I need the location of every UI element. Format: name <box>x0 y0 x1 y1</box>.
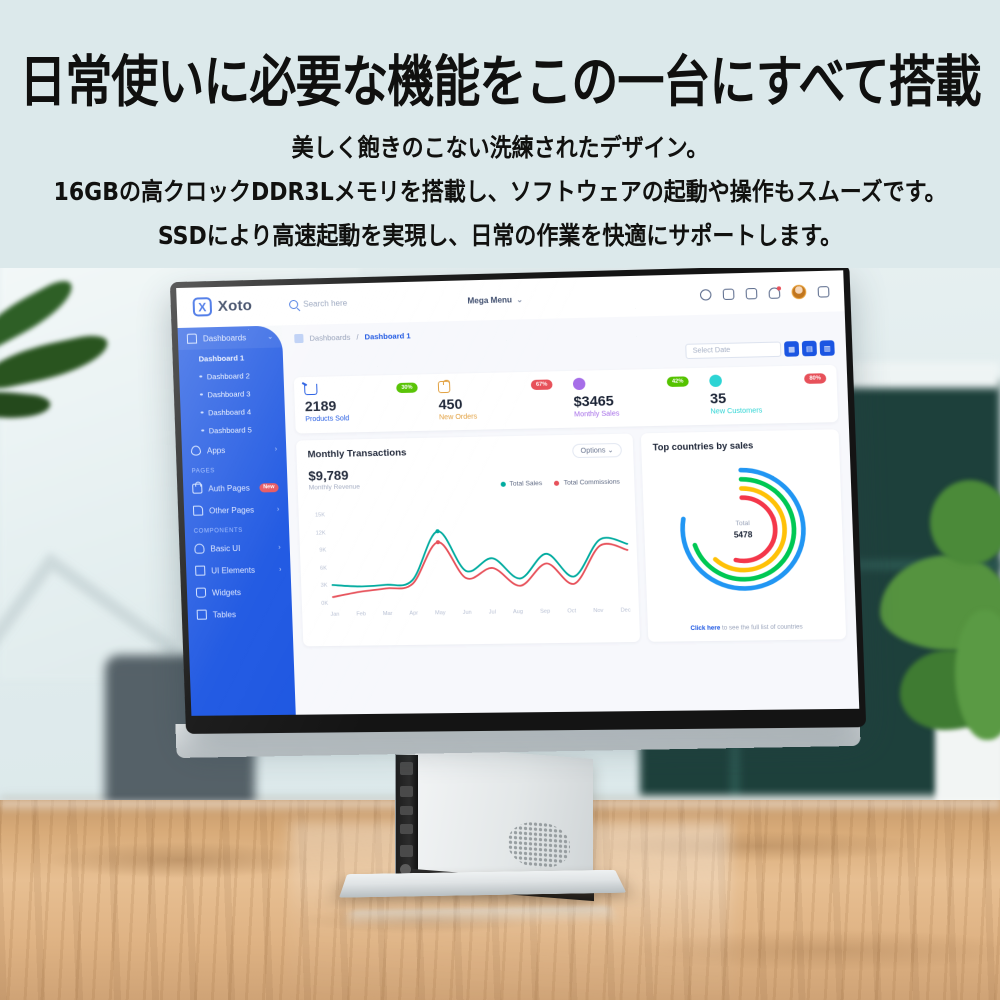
stat-label: New Orders <box>439 412 554 422</box>
promo-line-3: SSDにより高速起動を実現し、日常の作業を快適にサポートします。 <box>0 216 1000 252</box>
table-icon <box>197 610 207 620</box>
stat-card-header: 30% <box>304 382 418 396</box>
mega-menu-label: Mega Menu <box>467 295 512 305</box>
options-label: Options <box>581 447 606 455</box>
port-vga-icon <box>400 762 413 775</box>
legend-label: Total Sales <box>509 480 542 488</box>
stat-card-header: 80% <box>709 372 826 387</box>
chevron-right-icon: › <box>279 566 282 573</box>
line-chart: 15K12K9K6K3K0K JanFebMarAprMayJunJulAugS… <box>307 507 631 623</box>
search-icon <box>289 300 298 309</box>
monstera-leaf-icon <box>930 480 1000 565</box>
y-axis-tick: 0K <box>321 601 328 607</box>
sidebar-item-other-pages[interactable]: Other Pages › <box>184 498 289 522</box>
pin-icon <box>191 446 201 456</box>
chevron-down-icon: ⌄ <box>516 295 523 304</box>
breadcrumb-current: Dashboard 1 <box>364 331 410 341</box>
port-usb-icon <box>400 824 413 834</box>
settings-panel-icon[interactable] <box>818 286 830 298</box>
sidebar-sub-label: Dashboard 3 <box>207 389 250 399</box>
stat-cards: 30% 2189 Products Sold 67% 450 <box>294 365 839 434</box>
y-axis-tick: 3K <box>321 583 328 589</box>
bullet-icon <box>199 375 202 378</box>
stat-card-monthly-sales[interactable]: 42% $3465 Monthly Sales <box>562 368 700 428</box>
search-input[interactable]: Search here <box>289 299 347 310</box>
port-hdmi-icon <box>400 786 413 797</box>
sidebar-item-apps[interactable]: Apps › <box>182 438 287 462</box>
mail-icon[interactable] <box>746 287 758 299</box>
grid-icon <box>195 566 205 576</box>
stat-label: New Customers <box>710 406 827 416</box>
sidebar-item-auth-pages[interactable]: Auth Pages New <box>183 476 288 500</box>
chevron-down-icon: ⌄ <box>267 333 273 341</box>
y-axis-tick: 15K <box>315 512 325 518</box>
stat-card-header: 42% <box>573 375 689 390</box>
status-badge: New <box>259 483 279 492</box>
x-axis-tick: Apr <box>409 611 418 617</box>
chart-legend: Total Sales Total Commissions <box>500 479 620 488</box>
sidebar-item-dashboards[interactable]: Dashboards ⌄ <box>178 325 283 350</box>
main-content: Dashboards / Dashboard 1 Select Date ▦ ▤… <box>282 311 859 714</box>
radial-center-label: Total <box>735 519 750 526</box>
search-placeholder: Search here <box>303 299 347 309</box>
sidebar-item-ui-elements[interactable]: UI Elements › <box>186 558 291 582</box>
dashboard-app: X Xoto Search here Mega Menu⌄ <box>176 270 859 716</box>
bag-icon <box>438 381 451 393</box>
legend-swatch <box>554 481 559 486</box>
page-title: 日常使いに必要な機能をこの一台にすべて搭載 <box>0 36 1000 117</box>
y-axis-labels: 15K12K9K6K3K0K <box>307 512 329 611</box>
legend-item-total-sales[interactable]: Total Sales <box>500 480 542 488</box>
stat-label: Monthly Sales <box>574 409 690 419</box>
sidebar-sub-label: Dashboard 2 <box>207 371 250 381</box>
product-promo-image: X Xoto Search here Mega Menu⌄ <box>0 0 1000 1000</box>
sidebar-item-label: Other Pages <box>209 505 254 515</box>
notification-bell-icon[interactable] <box>768 287 780 299</box>
sidebar-item-label: Basic UI <box>210 543 240 553</box>
sidebar-sub-label: Dashboard 4 <box>208 407 251 417</box>
card-header: Monthly Transactions Options ⌄ <box>307 443 622 463</box>
y-axis-tick: 12K <box>316 530 326 536</box>
x-axis-tick: Nov <box>593 608 603 614</box>
monthly-transactions-card: Monthly Transactions Options ⌄ $9,789 Mo… <box>296 434 640 647</box>
card-title: Monthly Transactions <box>307 447 406 460</box>
brand-mark-icon: X <box>192 297 212 316</box>
sidebar-item-basic-ui[interactable]: Basic UI › <box>185 536 290 560</box>
sidebar-sub-label: Dashboard 1 <box>198 353 244 363</box>
sidebar: Dashboards ⌄ Dashboard 1 Dashboard 2 <box>178 325 296 715</box>
widget-icon <box>196 588 206 598</box>
stat-card-header: 67% <box>438 378 553 393</box>
promo-line-2: 16GBの高クロックDDR3Lメモリを搭載し、ソフトウェアの起動や操作もスムーズ… <box>0 172 1000 208</box>
chevron-right-icon: › <box>278 544 281 551</box>
legend-item-total-commissions[interactable]: Total Commissions <box>554 479 620 487</box>
x-axis-tick: Jul <box>489 609 496 615</box>
legend-label: Total Commissions <box>564 479 620 487</box>
countries-link-prefix: Click here <box>690 626 720 633</box>
bullet-icon <box>201 411 204 414</box>
options-dropdown[interactable]: Options ⌄ <box>572 443 622 458</box>
promo-text-block: 日常使いに必要な機能をこの一台にすべて搭載 美しく飽きのこない洗練されたデザイン… <box>0 0 1000 268</box>
sidebar-item-label: Dashboards <box>203 333 247 343</box>
sidebar-item-label: Widgets <box>212 588 241 597</box>
stat-percent-badge: 42% <box>667 376 689 387</box>
countries-link-rest: to see the full list of countries <box>720 624 803 631</box>
sidebar-item-label: Apps <box>207 446 226 455</box>
line-chart-svg <box>327 507 633 611</box>
date-input[interactable]: Select Date <box>685 342 781 360</box>
stat-value: 35 <box>710 389 827 406</box>
stat-percent-badge: 67% <box>531 379 553 390</box>
download-icon <box>573 378 586 390</box>
view-button-table[interactable]: ▥ <box>820 340 835 356</box>
x-axis-tick: Mar <box>383 611 393 617</box>
sidebar-item-label: UI Elements <box>211 565 255 575</box>
sidebar-item-tables[interactable]: Tables <box>187 602 292 626</box>
breadcrumb-root[interactable]: Dashboards <box>309 333 350 343</box>
mega-menu-button[interactable]: Mega Menu⌄ <box>467 295 523 306</box>
port-usb-icon <box>400 806 413 815</box>
x-axis-tick: Dec <box>620 607 630 613</box>
view-button-list[interactable]: ▤ <box>802 341 817 357</box>
apps-grid-icon[interactable] <box>723 288 735 300</box>
sidebar-item-dashboard-3[interactable]: Dashboard 3 <box>180 384 285 404</box>
home-icon <box>187 334 197 344</box>
y-axis-tick: 9K <box>319 548 326 554</box>
sidebar-item-dashboard-4[interactable]: Dashboard 4 <box>180 402 285 422</box>
monitor: X Xoto Search here Mega Menu⌄ <box>178 282 842 752</box>
sidebar-item-label: Tables <box>213 610 236 619</box>
chevron-right-icon: › <box>277 506 280 513</box>
topbar-icons <box>700 284 830 302</box>
x-axis-tick: Oct <box>567 608 576 614</box>
stat-percent-badge: 30% <box>396 382 418 393</box>
x-axis-tick: Feb <box>356 611 366 617</box>
countries-link[interactable]: Click here to see the full list of count… <box>648 624 846 633</box>
sidebar-item-widgets[interactable]: Widgets <box>187 580 292 604</box>
stat-label: Products Sold <box>305 414 419 423</box>
cart-icon <box>304 384 318 395</box>
legend-swatch <box>500 482 505 487</box>
y-axis-tick: 6K <box>320 565 327 571</box>
breadcrumb-icon <box>294 334 303 343</box>
avatar[interactable] <box>791 285 806 300</box>
x-axis-tick: Aug <box>513 609 523 615</box>
sidebar-item-dashboard-5[interactable]: Dashboard 5 <box>181 420 286 440</box>
stat-card-new-orders[interactable]: 67% 450 New Orders <box>427 371 564 431</box>
radial-chart: Total 5478 <box>668 456 819 601</box>
brand-logo[interactable]: X Xoto <box>192 296 252 317</box>
sidebar-item-label: Auth Pages <box>208 483 250 493</box>
stat-card-products-sold[interactable]: 30% 2189 Products Sold <box>294 374 430 433</box>
sidebar-group-components: COMPONENTS <box>184 520 289 538</box>
refresh-icon[interactable] <box>700 289 712 301</box>
stat-percent-badge: 80% <box>804 373 826 384</box>
radial-center-value: 5478 <box>734 530 753 539</box>
view-button-grid[interactable]: ▦ <box>784 341 799 357</box>
customer-icon <box>709 375 722 388</box>
radial-center: Total 5478 <box>668 456 819 601</box>
sidebar-sub-label: Dashboard 5 <box>209 425 252 435</box>
stat-value: 2189 <box>305 397 419 414</box>
x-axis-tick: Sep <box>540 609 550 615</box>
document-icon <box>193 506 203 516</box>
stat-card-new-customers[interactable]: 80% 35 New Customers <box>699 365 839 425</box>
x-axis-tick: May <box>435 610 446 616</box>
port-lan-icon <box>400 845 413 857</box>
top-countries-card: Top countries by sales Total 5478 Click … <box>641 429 846 642</box>
bullet-icon <box>200 393 203 396</box>
chevron-down-icon: ⌄ <box>607 447 613 454</box>
x-axis-tick: Jan <box>330 612 339 618</box>
card-title: Top countries by sales <box>653 439 828 453</box>
monitor-screen: X Xoto Search here Mega Menu⌄ <box>176 270 859 716</box>
stat-value: $3465 <box>573 392 689 409</box>
monitor-bezel: X Xoto Search here Mega Menu⌄ <box>170 264 866 734</box>
person-icon <box>194 544 204 554</box>
promo-line-1: 美しく飽きのこない洗練されたデザイン。 <box>0 128 1000 164</box>
date-filter: Select Date ▦ ▤ ▥ <box>685 340 835 359</box>
lock-icon <box>192 484 202 494</box>
brand-name: Xoto <box>218 297 253 315</box>
stat-value: 450 <box>438 395 553 412</box>
breadcrumb-separator: / <box>356 333 358 342</box>
x-axis-tick: Jun <box>463 610 472 616</box>
sidebar-item-dashboard-2[interactable]: Dashboard 2 <box>179 366 284 386</box>
chevron-right-icon: › <box>275 445 278 452</box>
bullet-icon <box>201 429 204 432</box>
